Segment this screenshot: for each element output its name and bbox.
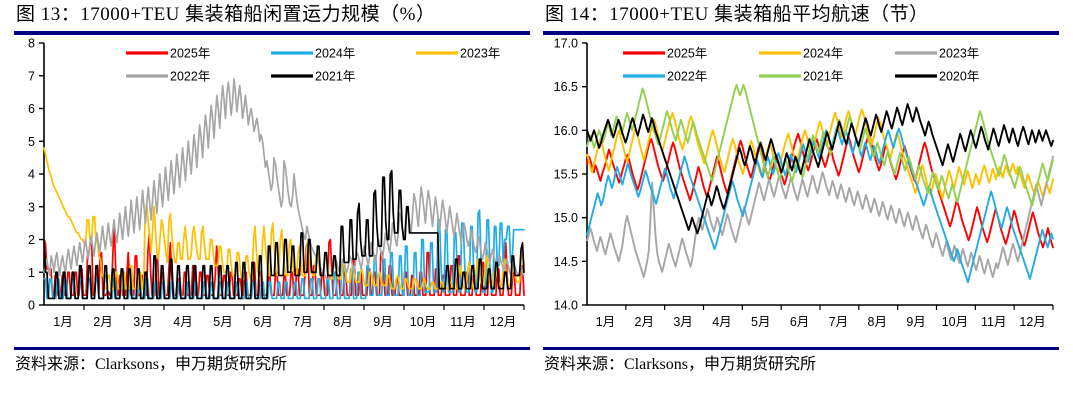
- x-axis-tick-label: 4月: [173, 315, 192, 329]
- x-axis-tick-label: 9月: [373, 315, 392, 329]
- x-axis-tick-label: 6月: [790, 315, 809, 329]
- series-line-2021年: [587, 85, 1053, 206]
- y-axis-tick-label: 14.0: [554, 299, 578, 313]
- y-axis-tick-label: 8: [28, 37, 35, 51]
- figure-13-title: 图 13：17000+TEU 集装箱船闲置运力规模（%）: [14, 0, 536, 30]
- x-axis-tick-label: 11月: [981, 315, 1006, 329]
- x-axis-tick-label: 1月: [596, 315, 615, 329]
- x-axis-tick-label: 7月: [829, 315, 848, 329]
- x-axis-tick-label: 9月: [906, 315, 925, 329]
- x-axis-tick-label: 5月: [751, 315, 770, 329]
- y-axis-tick-label: 6: [28, 102, 35, 116]
- legend-label-2024年: 2024年: [315, 47, 355, 61]
- x-axis-tick-label: 5月: [213, 315, 232, 329]
- x-axis-tick-label: 4月: [712, 315, 731, 329]
- y-axis-tick-label: 2: [28, 233, 35, 247]
- figure-13-panel: 图 13：17000+TEU 集装箱船闲置运力规模（%） 0123456781月…: [14, 0, 536, 401]
- legend-label-2021年: 2021年: [315, 70, 355, 84]
- y-axis-tick-label: 1: [28, 266, 35, 280]
- y-axis-tick-label: 5: [28, 135, 35, 149]
- y-axis-tick-label: 15.5: [554, 168, 578, 182]
- series-line-2023年: [587, 157, 1053, 278]
- figure-14-chart: 14.014.515.015.516.016.517.01月2月3月4月5月6月…: [543, 35, 1059, 347]
- legend-label-2023年: 2023年: [460, 47, 500, 61]
- figure-13-source: 资料来源：Clarksons，申万期货研究所: [14, 350, 536, 380]
- y-axis-tick-label: 0: [28, 299, 35, 313]
- figure-14-title: 图 14：17000+TEU 集装箱船平均航速（节）: [543, 0, 1065, 30]
- legend-label-2020年: 2020年: [939, 70, 979, 84]
- x-axis-tick-label: 2月: [635, 315, 654, 329]
- figure-13-chart: 0123456781月2月3月4月5月6月7月8月9月10月11月12月2025…: [14, 35, 530, 347]
- x-axis-tick-label: 12月: [490, 315, 516, 329]
- x-axis-tick-label: 7月: [293, 315, 312, 329]
- legend-label-2022年: 2022年: [667, 70, 707, 84]
- x-axis-tick-label: 6月: [253, 315, 272, 329]
- figure-14-plot: 14.014.515.015.516.016.517.01月2月3月4月5月6月…: [543, 35, 1059, 347]
- x-axis-tick-label: 3月: [673, 315, 692, 329]
- legend-label-2023年: 2023年: [939, 47, 979, 61]
- x-axis-tick-label: 8月: [333, 315, 352, 329]
- y-axis-tick-label: 3: [28, 200, 35, 214]
- y-axis-tick-label: 16.0: [554, 124, 578, 138]
- y-axis-tick-label: 15.0: [554, 211, 578, 225]
- figure-13-plot: 0123456781月2月3月4月5月6月7月8月9月10月11月12月2025…: [14, 35, 530, 347]
- legend-label-2021年: 2021年: [803, 70, 843, 84]
- x-axis-tick-label: 3月: [133, 315, 152, 329]
- x-axis-tick-label: 10月: [942, 315, 968, 329]
- legend-label-2022年: 2022年: [170, 70, 210, 84]
- figure-14-source: 资料来源：Clarksons，申万期货研究所: [543, 350, 1065, 380]
- x-axis-tick-label: 1月: [53, 315, 72, 329]
- legend-label-2025年: 2025年: [170, 47, 210, 61]
- y-axis-tick-label: 14.5: [554, 255, 578, 269]
- x-axis-tick-label: 12月: [1019, 315, 1045, 329]
- y-axis-tick-label: 17.0: [554, 37, 578, 51]
- x-axis-tick-label: 2月: [93, 315, 112, 329]
- y-axis-tick-label: 4: [28, 168, 35, 182]
- figure-14-panel: 图 14：17000+TEU 集装箱船平均航速（节） 14.014.515.01…: [543, 0, 1065, 401]
- x-axis-tick-label: 11月: [450, 315, 475, 329]
- x-axis-tick-label: 10月: [410, 315, 436, 329]
- y-axis-tick-label: 16.5: [554, 80, 578, 94]
- y-axis-tick-label: 7: [28, 69, 35, 83]
- legend-label-2025年: 2025年: [667, 47, 707, 61]
- figures-page: 图 13：17000+TEU 集装箱船闲置运力规模（%） 0123456781月…: [0, 0, 1073, 401]
- legend-label-2024年: 2024年: [803, 47, 843, 61]
- x-axis-tick-label: 8月: [868, 315, 887, 329]
- series-line-2025年: [587, 134, 1053, 248]
